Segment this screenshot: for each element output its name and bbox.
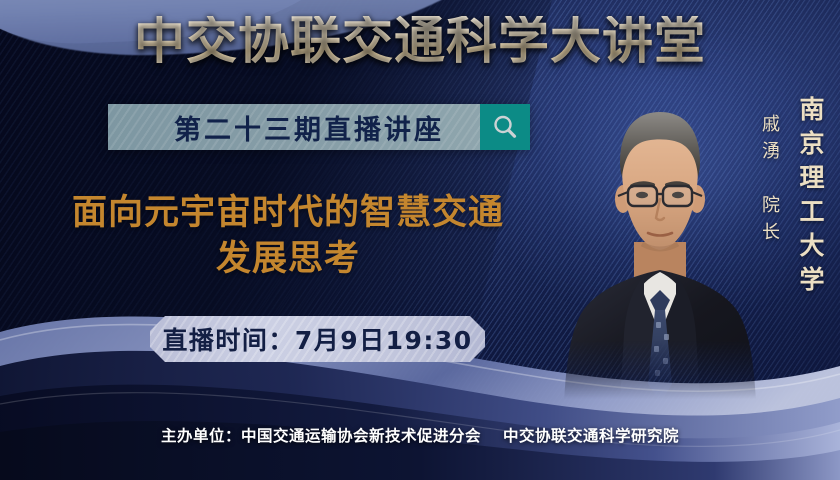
footer-prefix: 主办单位： xyxy=(161,427,241,445)
episode-subtitle-label: 第二十三期直播讲座 xyxy=(144,108,444,147)
lecture-title-line-1: 面向元宇宙时代的智慧交通 xyxy=(72,193,504,233)
episode-subtitle-fill: 第二十三期直播讲座 xyxy=(108,104,480,150)
search-icon-box[interactable] xyxy=(480,104,530,150)
page-title: 中交协联交通科学大讲堂 xyxy=(0,16,840,67)
footer-org-1: 中国交通运输协会新技术促进分会 xyxy=(241,427,481,445)
lecture-title: 面向元宇宙时代的智慧交通 发展思考 xyxy=(28,190,548,282)
lecture-title-line-2: 发展思考 xyxy=(28,236,548,282)
broadcast-time-label: 直播时间：7月9日19:30 xyxy=(162,321,472,357)
speaker-portrait-photo xyxy=(560,94,760,402)
live-lecture-poster: 中交协联交通科学大讲堂 第二十三期直播讲座 面向元宇宙时代的智慧交通 发展思考 … xyxy=(0,0,840,480)
episode-subtitle-bar: 第二十三期直播讲座 xyxy=(108,104,530,150)
speaker-organization: 南京理工大学 xyxy=(792,96,828,300)
broadcast-time-badge: 直播时间：7月9日19:30 xyxy=(150,316,485,362)
speaker-info: 戚湧 院长 南京理工大学 xyxy=(756,96,828,300)
footer-organizers: 主办单位：中国交通运输协会新技术促进分会中交协联交通科学研究院 xyxy=(0,424,840,446)
speaker-name: 戚湧 院长 xyxy=(756,114,782,249)
footer-org-2: 中交协联交通科学研究院 xyxy=(503,427,679,445)
search-icon xyxy=(491,113,519,141)
